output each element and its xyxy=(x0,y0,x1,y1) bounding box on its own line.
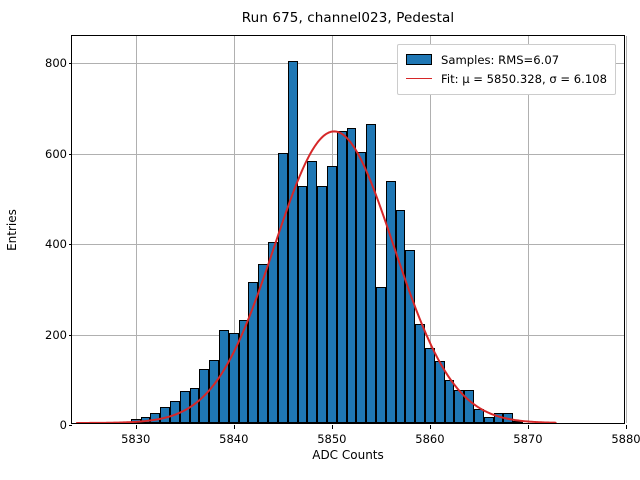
histogram-bar xyxy=(484,417,494,423)
histogram-bar xyxy=(494,413,504,423)
histogram-bar xyxy=(131,419,141,423)
legend-item-samples: Samples: RMS=6.07 xyxy=(406,50,607,69)
x-tick-label-5850: 5850 xyxy=(317,432,346,446)
histogram-bar xyxy=(386,181,396,423)
legend-label-fit: Fit: μ = 5850.328, σ = 6.108 xyxy=(441,72,607,86)
histogram-bar xyxy=(503,413,513,423)
histogram-bar xyxy=(150,413,160,423)
y-tick-400 xyxy=(69,244,73,245)
histogram-bar xyxy=(366,124,376,423)
histogram-bar xyxy=(513,421,523,423)
histogram-bar xyxy=(209,360,219,423)
histogram-bar xyxy=(425,348,435,423)
histogram-bar xyxy=(298,186,308,423)
histogram-bar xyxy=(396,210,406,423)
x-tick-label-5880: 5880 xyxy=(611,432,640,446)
y-tick-0 xyxy=(69,425,73,426)
x-tick-5850 xyxy=(332,425,333,429)
x-tick-label-5830: 5830 xyxy=(121,432,150,446)
chart-legend[interactable]: Samples: RMS=6.07 Fit: μ = 5850.328, σ =… xyxy=(397,44,616,95)
histogram-bar xyxy=(219,330,229,423)
legend-patch-icon xyxy=(406,54,432,65)
y-axis-label-text: Entries xyxy=(5,209,19,251)
histogram-bar xyxy=(199,369,209,423)
gridline-x-5880 xyxy=(626,36,627,423)
y-tick-label-0: 0 xyxy=(60,418,67,432)
histogram-bar xyxy=(180,391,190,423)
histogram-bar xyxy=(337,131,347,423)
histogram-bar xyxy=(190,388,200,423)
plot-axes: 0200400600800 583058405850586058705880 S… xyxy=(71,35,625,424)
legend-label-samples: Samples: RMS=6.07 xyxy=(441,53,559,67)
histogram-bar xyxy=(288,61,298,423)
histogram-bar xyxy=(454,390,464,423)
histogram-bar xyxy=(356,152,366,423)
matplotlib-figure: Run 675, channel023, Pedestal Entries 02… xyxy=(0,0,640,480)
x-tick-5840 xyxy=(234,425,235,429)
histogram-bar xyxy=(464,390,474,423)
x-tick-5860 xyxy=(430,425,431,429)
x-tick-label-5860: 5860 xyxy=(415,432,444,446)
histogram-bar xyxy=(415,324,425,424)
histogram-bar xyxy=(445,380,455,423)
page-title: Run 675, channel023, Pedestal xyxy=(71,10,625,26)
histogram-bar xyxy=(229,333,239,423)
y-tick-label-200: 200 xyxy=(45,328,67,342)
histogram-bar xyxy=(141,417,151,423)
y-tick-label-400: 400 xyxy=(45,237,67,251)
x-tick-5870 xyxy=(528,425,529,429)
histogram-bar xyxy=(248,282,258,423)
y-tick-label-800: 800 xyxy=(45,56,67,70)
x-tick-5880 xyxy=(626,425,627,429)
histogram-bar xyxy=(268,242,278,423)
histogram-bar xyxy=(239,320,249,423)
y-tick-600 xyxy=(69,154,73,155)
x-tick-5830 xyxy=(136,425,137,429)
histogram-bar xyxy=(307,161,317,423)
y-tick-200 xyxy=(69,335,73,336)
x-axis-label: ADC Counts xyxy=(71,448,625,462)
histogram-bar xyxy=(327,166,337,423)
legend-item-fit: Fit: μ = 5850.328, σ = 6.108 xyxy=(406,69,607,88)
histogram-bar xyxy=(160,407,170,423)
histogram-bar xyxy=(405,250,415,423)
histogram-bar xyxy=(258,264,268,423)
y-axis-label: Entries xyxy=(4,35,20,424)
y-tick-800 xyxy=(69,63,73,64)
x-tick-label-5870: 5870 xyxy=(513,432,542,446)
histogram-bar xyxy=(278,153,288,423)
histogram-bar xyxy=(170,401,180,423)
x-tick-label-5840: 5840 xyxy=(219,432,248,446)
histogram-bar xyxy=(376,287,386,423)
legend-line-icon xyxy=(406,78,432,79)
histogram-bar xyxy=(317,186,327,423)
histogram-bar xyxy=(474,409,484,423)
y-tick-label-600: 600 xyxy=(45,147,67,161)
histogram-bar xyxy=(347,128,357,423)
histogram-bar xyxy=(435,361,445,423)
